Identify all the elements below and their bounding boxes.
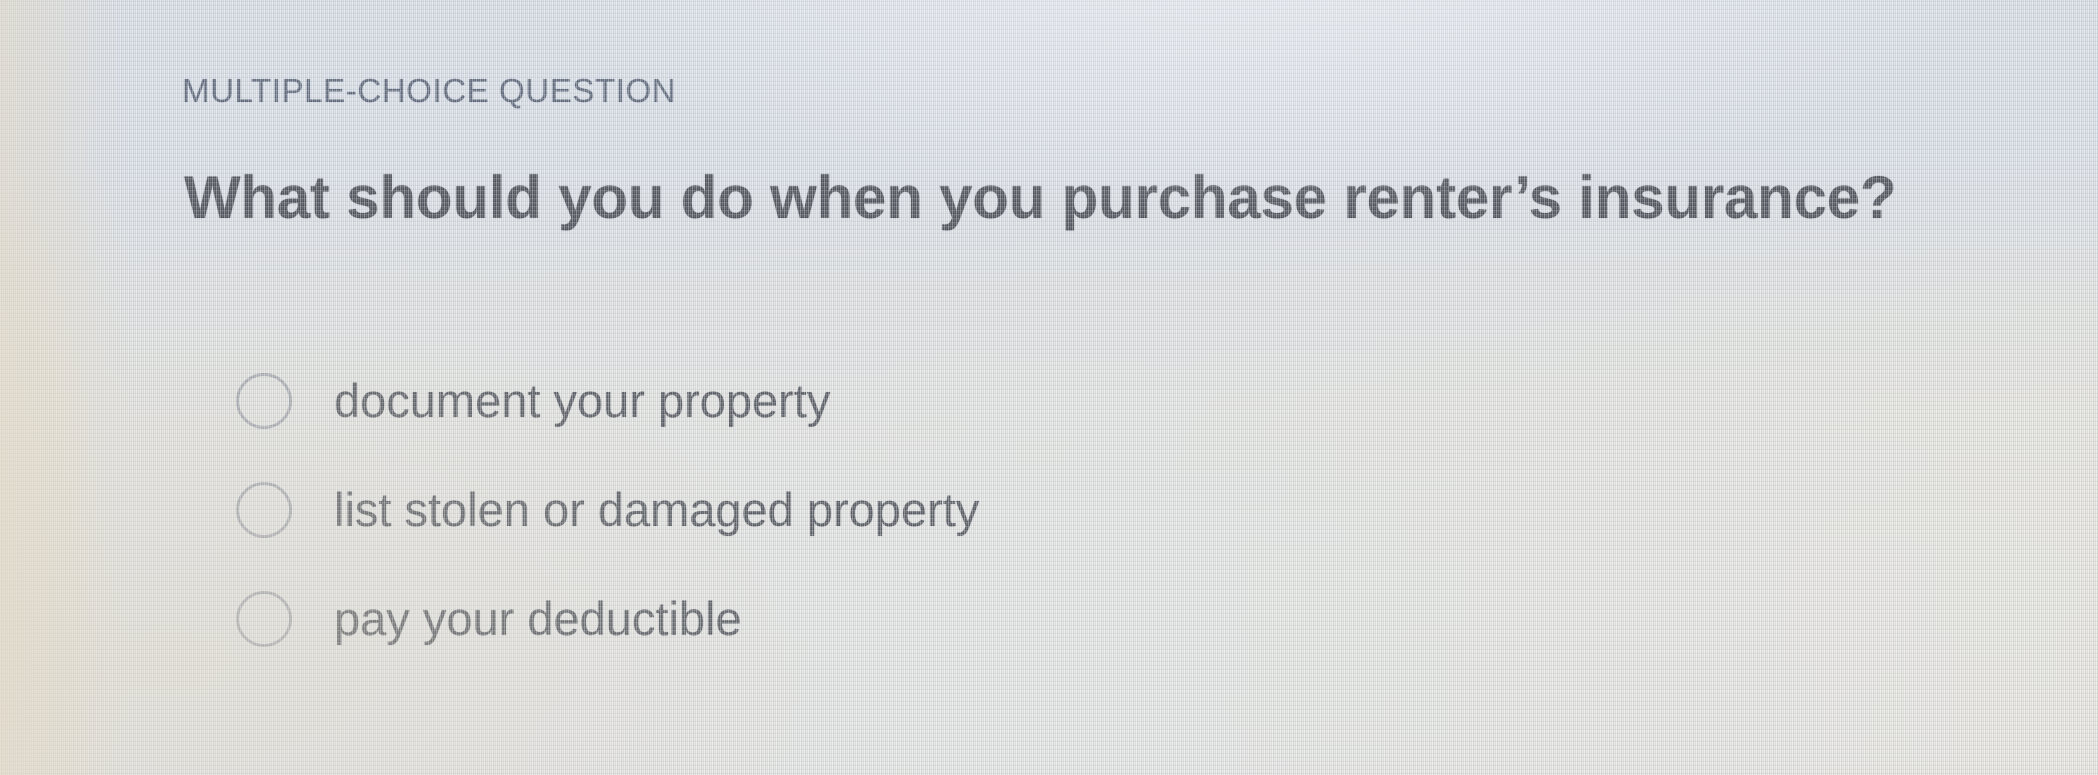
radio-button-icon[interactable] — [236, 591, 292, 647]
answer-option-label: document your property — [334, 373, 830, 428]
screen-photo: MULTIPLE-CHOICE QUESTION What should you… — [0, 0, 2098, 775]
answer-option-b[interactable]: list stolen or damaged property — [236, 477, 979, 542]
answer-options-list: document your property list stolen or da… — [236, 368, 979, 695]
answer-option-label: list stolen or damaged property — [334, 482, 979, 537]
question-prompt: What should you do when you purchase ren… — [184, 166, 1896, 229]
answer-option-label: pay your deductible — [334, 591, 742, 646]
answer-option-c[interactable]: pay your deductible — [236, 586, 979, 651]
radio-button-icon[interactable] — [236, 482, 292, 538]
answer-option-a[interactable]: document your property — [236, 368, 979, 433]
question-type-label: MULTIPLE-CHOICE QUESTION — [182, 72, 676, 110]
question-card: MULTIPLE-CHOICE QUESTION What should you… — [0, 0, 2098, 775]
radio-button-icon[interactable] — [236, 373, 292, 429]
